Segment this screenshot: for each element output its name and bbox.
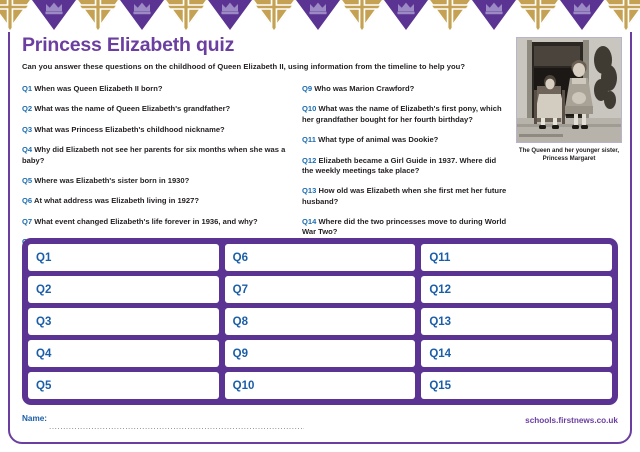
answer-box-label: Q13	[429, 316, 451, 328]
question-text: Who was Marion Crawford?	[314, 84, 414, 93]
question-item: Q6 At what address was Elizabeth living …	[22, 196, 300, 206]
archive-photo	[516, 37, 622, 143]
answer-box-label: Q7	[233, 284, 248, 296]
answer-box-q3[interactable]: Q3	[28, 308, 219, 335]
answer-box-label: Q1	[36, 252, 51, 264]
question-number: Q4	[22, 145, 32, 154]
question-text: What was the name of Queen Elizabeth's g…	[34, 104, 230, 113]
question-item: Q4 Why did Elizabeth not see her parents…	[22, 145, 300, 166]
answer-box-label: Q2	[36, 284, 51, 296]
question-item: Q11 What type of animal was Dookie?	[302, 135, 507, 145]
question-item: Q5 Where was Elizabeth's sister born in …	[22, 176, 300, 186]
answer-box-q2[interactable]: Q2	[28, 276, 219, 303]
answer-box-label: Q3	[36, 316, 51, 328]
question-text: What event changed Elizabeth's life fore…	[34, 217, 257, 226]
answer-box-q1[interactable]: Q1	[28, 244, 219, 271]
answer-box-q8[interactable]: Q8	[225, 308, 416, 335]
question-item: Q7 What event changed Elizabeth's life f…	[22, 217, 300, 227]
name-label: Name:	[22, 414, 47, 423]
answer-box-q12[interactable]: Q12	[421, 276, 612, 303]
quiz-worksheet-page: Princess Elizabeth quiz Can you answer t…	[0, 0, 640, 452]
question-item: Q2 What was the name of Queen Elizabeth'…	[22, 104, 300, 114]
answer-box-q15[interactable]: Q15	[421, 372, 612, 399]
footer: Name: ..................................…	[22, 414, 618, 436]
question-number: Q11	[302, 135, 316, 144]
question-text: Elizabeth became a Girl Guide in 1937. W…	[302, 156, 496, 175]
question-text: Where did the two princesses move to dur…	[302, 217, 506, 236]
question-item: Q10 What was the name of Elizabeth's fir…	[302, 104, 507, 125]
answer-box-label: Q8	[233, 316, 248, 328]
answer-box-label: Q6	[233, 252, 248, 264]
question-item: Q1 When was Queen Elizabeth II born?	[22, 84, 300, 94]
answer-box-label: Q15	[429, 380, 451, 392]
answer-column-1: Q1 Q2 Q3 Q4 Q5	[28, 244, 219, 399]
question-number: Q13	[302, 186, 316, 195]
site-url: schools.firstnews.co.uk	[525, 416, 618, 425]
question-number: Q5	[22, 176, 32, 185]
question-number: Q7	[22, 217, 32, 226]
question-item: Q12 Elizabeth became a Girl Guide in 193…	[302, 156, 507, 177]
answer-box-label: Q5	[36, 380, 51, 392]
answer-box-q9[interactable]: Q9	[225, 340, 416, 367]
question-number: Q3	[22, 125, 32, 134]
answer-box-label: Q11	[429, 252, 450, 264]
question-text: What was the name of Elizabeth's first p…	[302, 104, 502, 123]
name-input[interactable]: ........................................…	[49, 423, 304, 431]
question-text: What type of animal was Dookie?	[318, 135, 438, 144]
question-text: When was Queen Elizabeth II born?	[34, 84, 162, 93]
question-number: Q14	[302, 217, 316, 226]
answer-box-label: Q12	[429, 284, 451, 296]
question-text: How old was Elizabeth when she first met…	[302, 186, 506, 205]
question-item: Q3 What was Princess Elizabeth's childho…	[22, 125, 300, 135]
question-text: Where was Elizabeth's sister born in 193…	[34, 176, 189, 185]
answer-box-label: Q10	[233, 380, 255, 392]
answer-box-label: Q9	[233, 348, 248, 360]
question-number: Q6	[22, 196, 32, 205]
answer-box-q7[interactable]: Q7	[225, 276, 416, 303]
answer-column-2: Q6 Q7 Q8 Q9 Q10	[225, 244, 416, 399]
question-item: Q13 How old was Elizabeth when she first…	[302, 186, 507, 207]
question-number: Q10	[302, 104, 316, 113]
answer-grid: Q1 Q2 Q3 Q4 Q5 Q6 Q7 Q8 Q9 Q10 Q11 Q12 Q…	[22, 238, 618, 405]
question-number: Q9	[302, 84, 312, 93]
answer-box-label: Q4	[36, 348, 51, 360]
answer-box-q4[interactable]: Q4	[28, 340, 219, 367]
answer-box-q6[interactable]: Q6	[225, 244, 416, 271]
question-item: Q9 Who was Marion Crawford?	[302, 84, 507, 94]
question-text: What was Princess Elizabeth's childhood …	[34, 125, 224, 134]
photo-block: The Queen and her younger sister, Prince…	[516, 37, 622, 163]
page-subtitle: Can you answer these questions on the ch…	[22, 62, 465, 71]
question-column-left: Q1 When was Queen Elizabeth II born? Q2 …	[22, 84, 300, 258]
question-text: At what address was Elizabeth living in …	[34, 196, 199, 205]
answer-box-q14[interactable]: Q14	[421, 340, 612, 367]
answer-box-q5[interactable]: Q5	[28, 372, 219, 399]
question-text: Why did Elizabeth not see her parents fo…	[22, 145, 285, 164]
question-number: Q1	[22, 84, 32, 93]
answer-box-q10[interactable]: Q10	[225, 372, 416, 399]
answer-column-3: Q11 Q12 Q13 Q14 Q15	[421, 244, 612, 399]
answer-box-q13[interactable]: Q13	[421, 308, 612, 335]
answer-box-q11[interactable]: Q11	[421, 244, 612, 271]
answer-box-label: Q14	[429, 348, 451, 360]
question-number: Q12	[302, 156, 316, 165]
question-item: Q14 Where did the two princesses move to…	[302, 217, 507, 238]
question-number: Q2	[22, 104, 32, 113]
photo-caption: The Queen and her younger sister, Prince…	[516, 147, 622, 163]
page-title: Princess Elizabeth quiz	[22, 34, 234, 57]
